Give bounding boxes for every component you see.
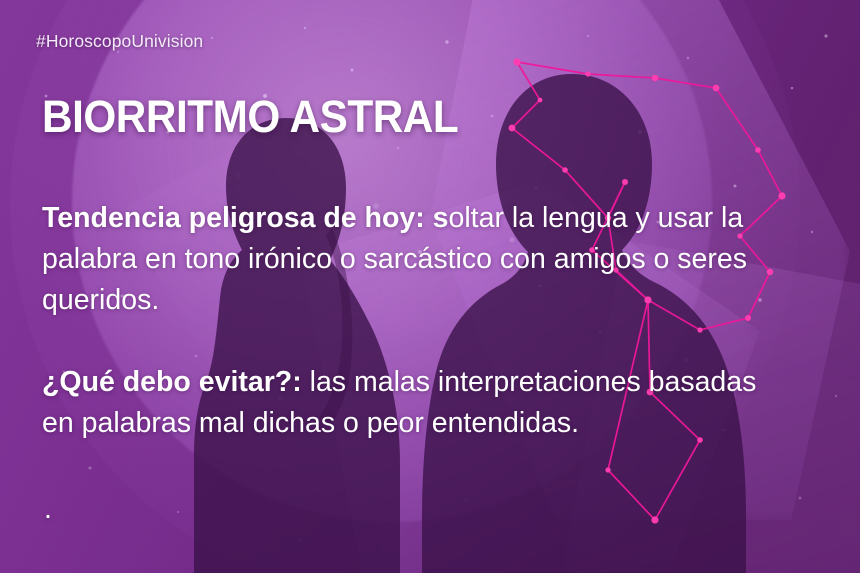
paragraph-tendencia: Tendencia peligrosa de hoy: soltar la le…	[42, 198, 762, 321]
trailing-period: .	[44, 489, 52, 530]
horoscope-card: #HoroscopoUnivision BIORRITMO ASTRAL Ten…	[0, 0, 860, 573]
page-title: BIORRITMO ASTRAL	[42, 92, 458, 142]
hashtag-label: #HoroscopoUnivision	[36, 31, 203, 52]
paragraph-evitar: ¿Qué debo evitar?: las malas interpretac…	[42, 362, 762, 444]
paragraph-evitar-label: ¿Qué debo evitar?:	[42, 366, 302, 398]
paragraph-tendencia-emphasis-char: s	[433, 202, 449, 234]
body-copy: Tendencia peligrosa de hoy: soltar la le…	[42, 198, 762, 444]
text-content: #HoroscopoUnivision BIORRITMO ASTRAL Ten…	[0, 0, 860, 573]
paragraph-tendencia-label: Tendencia peligrosa de hoy:	[42, 202, 425, 234]
